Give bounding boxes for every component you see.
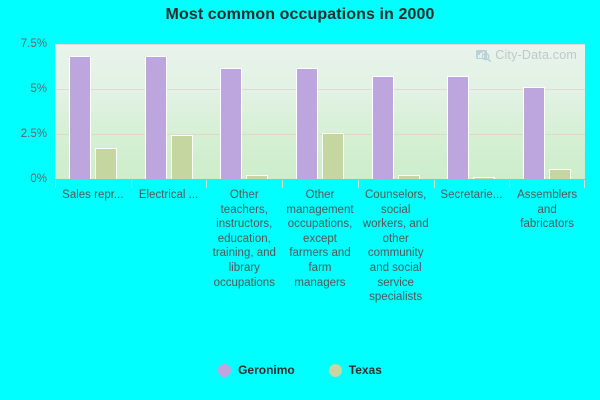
bar-group xyxy=(206,44,282,179)
y-axis-tick-label: 2.5% xyxy=(21,128,47,140)
x-axis-tick xyxy=(434,180,435,188)
y-axis: 0%2.5%5%7.5% xyxy=(0,44,50,179)
x-axis-tick xyxy=(584,180,585,188)
bar-geronimo[interactable] xyxy=(447,76,469,180)
bar-texas[interactable] xyxy=(322,133,344,179)
x-axis-tick xyxy=(509,180,510,188)
x-axis-tick xyxy=(206,180,207,188)
bar-group xyxy=(509,44,585,179)
bar-texas[interactable] xyxy=(171,135,193,179)
y-axis-tick-label: 7.5% xyxy=(21,38,47,50)
bar-geronimo[interactable] xyxy=(372,76,394,180)
bar-geronimo[interactable] xyxy=(296,68,318,179)
chart-root: Most common occupations in 2000 0%2.5%5%… xyxy=(0,0,600,400)
x-axis-tick xyxy=(131,180,132,188)
bar-geronimo[interactable] xyxy=(523,87,545,179)
x-axis-label: Sales repr... xyxy=(55,188,131,203)
bar-group xyxy=(55,44,131,179)
y-axis-tick-label: 5% xyxy=(30,83,47,95)
x-axis: Sales repr...Electrical ...Other teacher… xyxy=(55,180,585,325)
x-axis-tick xyxy=(55,180,56,188)
chart-legend: GeronimoTexas xyxy=(0,363,600,377)
x-axis-label: Assemblers and fabricators xyxy=(509,188,585,232)
bar-geronimo[interactable] xyxy=(220,68,242,179)
x-axis-label: Other management occupations, except far… xyxy=(282,188,358,290)
bar-group xyxy=(282,44,358,179)
legend-swatch-icon xyxy=(329,364,342,377)
y-axis-tick-label: 0% xyxy=(30,173,47,185)
plot-area: City-Data.com xyxy=(55,44,585,179)
x-axis-label: Electrical ... xyxy=(131,188,207,203)
x-axis-tick xyxy=(282,180,283,188)
x-axis-label: Other teachers, instructors, education, … xyxy=(206,188,282,290)
bar-texas[interactable] xyxy=(549,169,571,179)
legend-swatch-icon xyxy=(218,364,231,377)
bar-group xyxy=(131,44,207,179)
x-axis-label: Secretarie... xyxy=(434,188,510,203)
legend-label: Geronimo xyxy=(238,363,295,377)
legend-item-texas[interactable]: Texas xyxy=(329,363,382,377)
x-axis-label: Counselors, social workers, and other co… xyxy=(358,188,434,305)
bar-geronimo[interactable] xyxy=(69,56,91,179)
bar-group xyxy=(358,44,434,179)
bar-texas[interactable] xyxy=(95,148,117,179)
x-axis-tick xyxy=(358,180,359,188)
chart-title: Most common occupations in 2000 xyxy=(0,6,600,24)
bar-texas[interactable] xyxy=(473,177,495,179)
legend-item-geronimo[interactable]: Geronimo xyxy=(218,363,295,377)
bar-geronimo[interactable] xyxy=(145,56,167,179)
bar-texas[interactable] xyxy=(398,175,420,179)
bar-group xyxy=(434,44,510,179)
bar-texas[interactable] xyxy=(246,175,268,179)
legend-label: Texas xyxy=(349,363,382,377)
